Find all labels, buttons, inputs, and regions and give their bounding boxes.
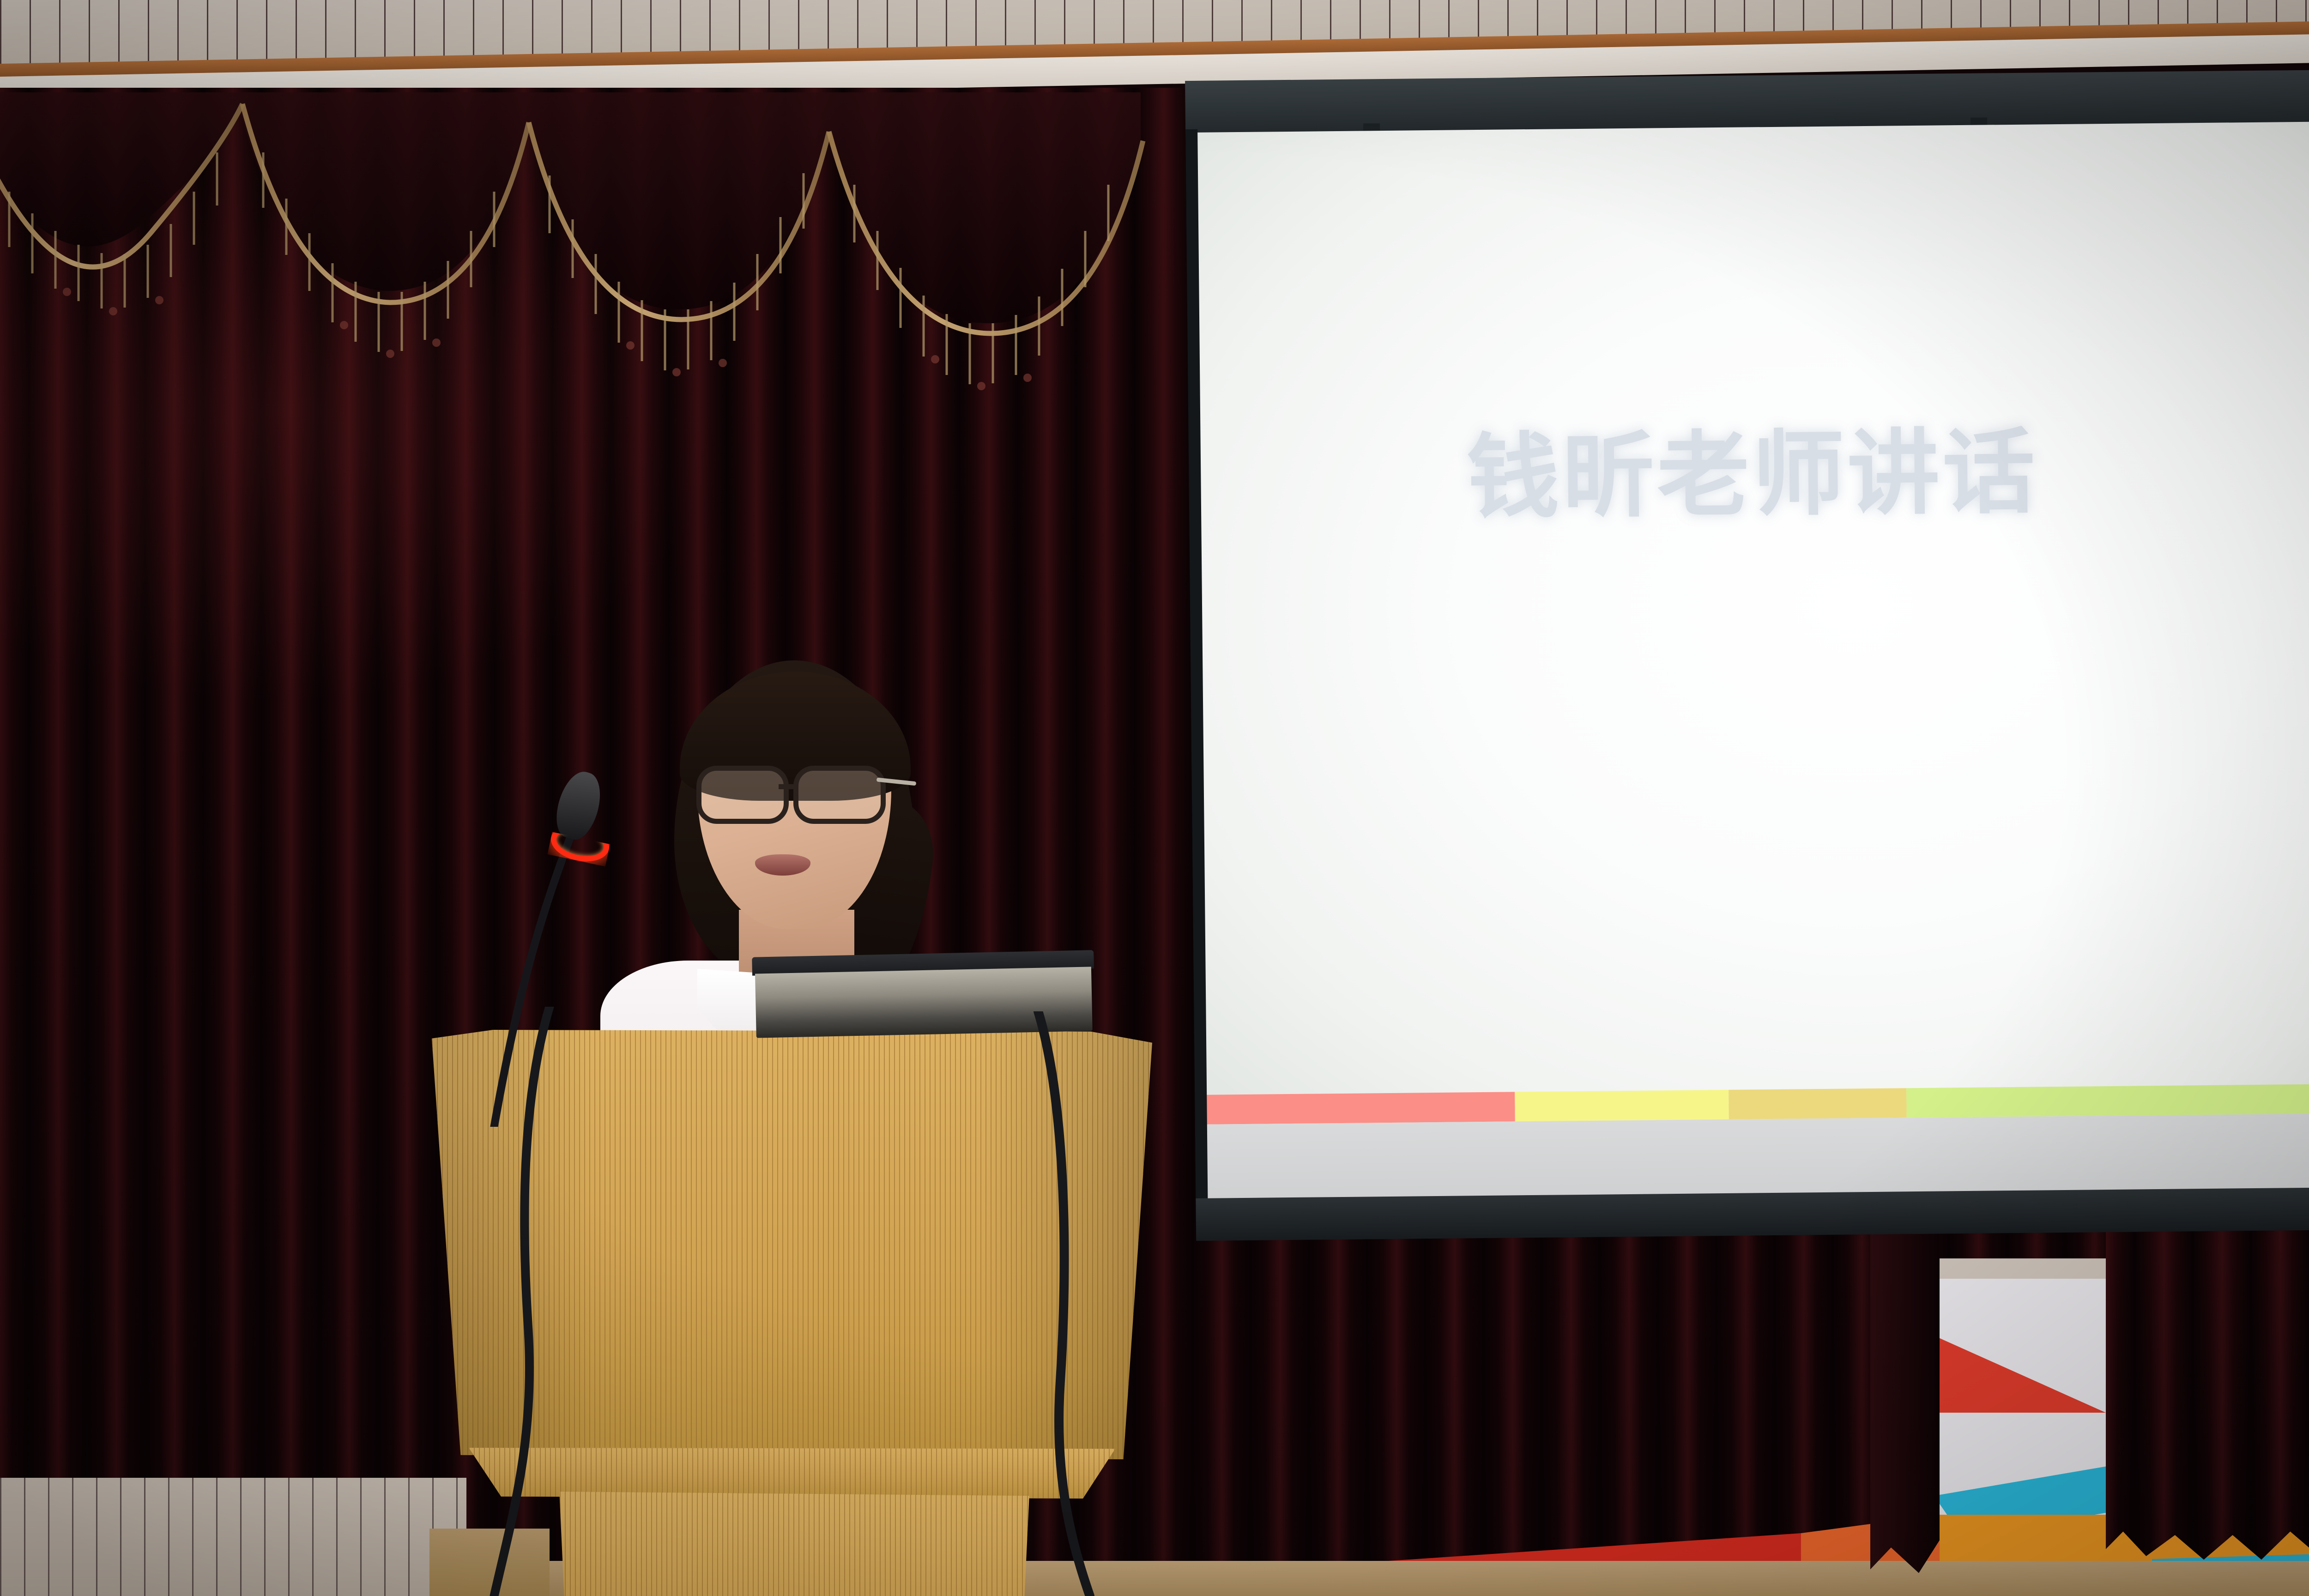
curtain-panel-banner-left	[1870, 1219, 1940, 1584]
color-bar-segment-salmon-red	[1206, 1092, 1515, 1124]
stage-scene: 钱昕老师讲话	[0, 0, 2309, 1596]
podium-cable-right	[1038, 1011, 1090, 1596]
glasses-lens-left	[696, 766, 789, 824]
slide-title: 钱昕老师讲话	[1199, 393, 2309, 539]
color-bar-segment-yellow	[1515, 1090, 1729, 1121]
speaker-glasses	[694, 766, 901, 821]
color-bar-segment-gold-yellow	[1729, 1088, 1907, 1119]
glasses-bridge	[779, 784, 797, 789]
podium-cable-left	[494, 1007, 550, 1596]
slat-wall	[0, 1478, 466, 1596]
slide-footer-band	[1206, 1113, 2309, 1200]
projection-screen: 钱昕老师讲话	[1185, 69, 2309, 1263]
color-bar-segment-yellow-green	[1907, 1083, 2309, 1118]
glasses-lens-right	[793, 766, 886, 824]
curtain-valance	[0, 92, 1210, 416]
presentation-slide: 钱昕老师讲话	[1197, 121, 2309, 1200]
curtain-panel-right	[2106, 1219, 2309, 1570]
